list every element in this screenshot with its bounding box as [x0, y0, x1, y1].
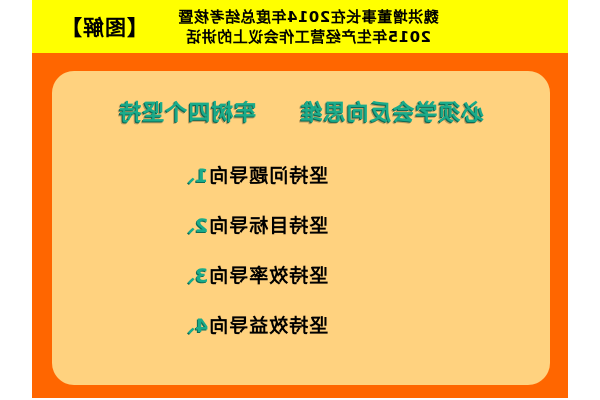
list-item: 4、 坚持效益导向 — [52, 299, 550, 349]
list-item-number: 2、 — [176, 211, 208, 238]
content-panel: 必须学会反向思维 牢树四个坚持 1、 坚持问题导向 2、 坚持目标导向 3、 坚… — [52, 71, 550, 385]
header-tag: 【图解】 — [60, 12, 148, 42]
list-item-number: 1、 — [176, 161, 208, 188]
list-item: 2、 坚持目标导向 — [52, 199, 550, 249]
panel-heading-right: 牢树四个坚持 — [118, 101, 256, 126]
panel-heading-left: 必须学会反向思维 — [300, 101, 484, 126]
list-item-label: 坚持效益导向 — [208, 311, 328, 338]
header-title-line-1: 魏洪增董事长在2014年度总结考核暨 — [178, 7, 439, 27]
key-points-list: 1、 坚持问题导向 2、 坚持目标导向 3、 坚持效率导向 4、 坚持效益导向 — [52, 149, 550, 349]
list-item-label: 坚持问题导向 — [208, 161, 328, 188]
list-item-number: 4、 — [176, 311, 208, 338]
header-title-block: 魏洪增董事长在2014年度总结考核暨 2015年生产经营工作会议上的讲话 — [178, 7, 439, 47]
panel-heading: 必须学会反向思维 牢树四个坚持 — [52, 95, 550, 127]
list-item: 3、 坚持效率导向 — [52, 249, 550, 299]
list-item-number: 3、 — [176, 261, 208, 288]
header-band: 【图解】 魏洪增董事长在2014年度总结考核暨 2015年生产经营工作会议上的讲… — [32, 0, 568, 53]
list-item-label: 坚持目标导向 — [208, 211, 328, 238]
list-item-label: 坚持效率导向 — [208, 261, 328, 288]
slide-canvas: 【图解】 魏洪增董事长在2014年度总结考核暨 2015年生产经营工作会议上的讲… — [0, 0, 600, 400]
list-item: 1、 坚持问题导向 — [52, 149, 550, 199]
header-title-line-2: 2015年生产经营工作会议上的讲话 — [186, 27, 431, 47]
